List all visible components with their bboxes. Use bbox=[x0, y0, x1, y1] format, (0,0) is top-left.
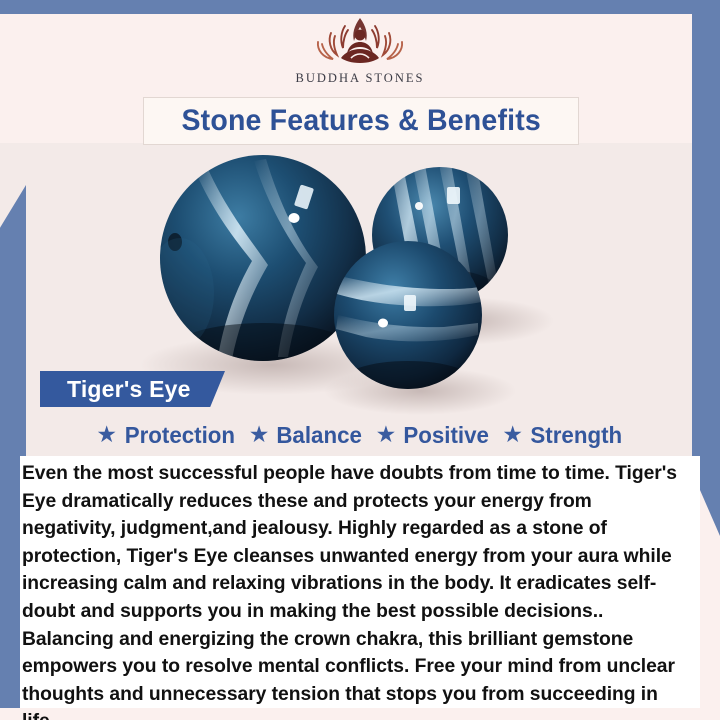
benefit-label: Positive bbox=[404, 422, 490, 449]
benefit-label: Protection bbox=[125, 422, 235, 449]
stone-photo bbox=[0, 143, 720, 458]
title-banner: Stone Features & Benefits bbox=[143, 97, 579, 145]
infographic-card: BUDDHA STONES Stone Features & Benefits bbox=[0, 0, 720, 720]
stone-name-label: Tiger's Eye bbox=[40, 376, 191, 403]
benefit-item: ★ Positive bbox=[371, 422, 496, 449]
star-icon: ★ bbox=[502, 423, 523, 446]
star-icon: ★ bbox=[249, 423, 270, 446]
benefit-item: ★ Balance bbox=[244, 422, 369, 449]
benefit-label: Balance bbox=[277, 422, 363, 449]
description-panel: Even the most successful people have dou… bbox=[20, 456, 700, 708]
star-icon: ★ bbox=[376, 423, 397, 446]
benefit-label: Strength bbox=[530, 422, 622, 449]
benefit-item: ★ Protection bbox=[91, 422, 241, 449]
description-text: Even the most successful people have dou… bbox=[20, 460, 690, 720]
stone-name-tag: Tiger's Eye bbox=[40, 371, 225, 407]
benefit-item: ★ Strength bbox=[497, 422, 628, 449]
frame-bar-top bbox=[0, 0, 720, 14]
brand-wordmark: BUDDHA STONES bbox=[296, 71, 425, 86]
brand-header: BUDDHA STONES bbox=[0, 14, 720, 92]
star-icon: ★ bbox=[96, 423, 117, 446]
benefits-row: ★ Protection ★ Balance ★ Positive ★ Stre… bbox=[0, 414, 720, 456]
page-title: Stone Features & Benefits bbox=[181, 104, 541, 138]
lotus-meditation-icon bbox=[301, 14, 419, 70]
